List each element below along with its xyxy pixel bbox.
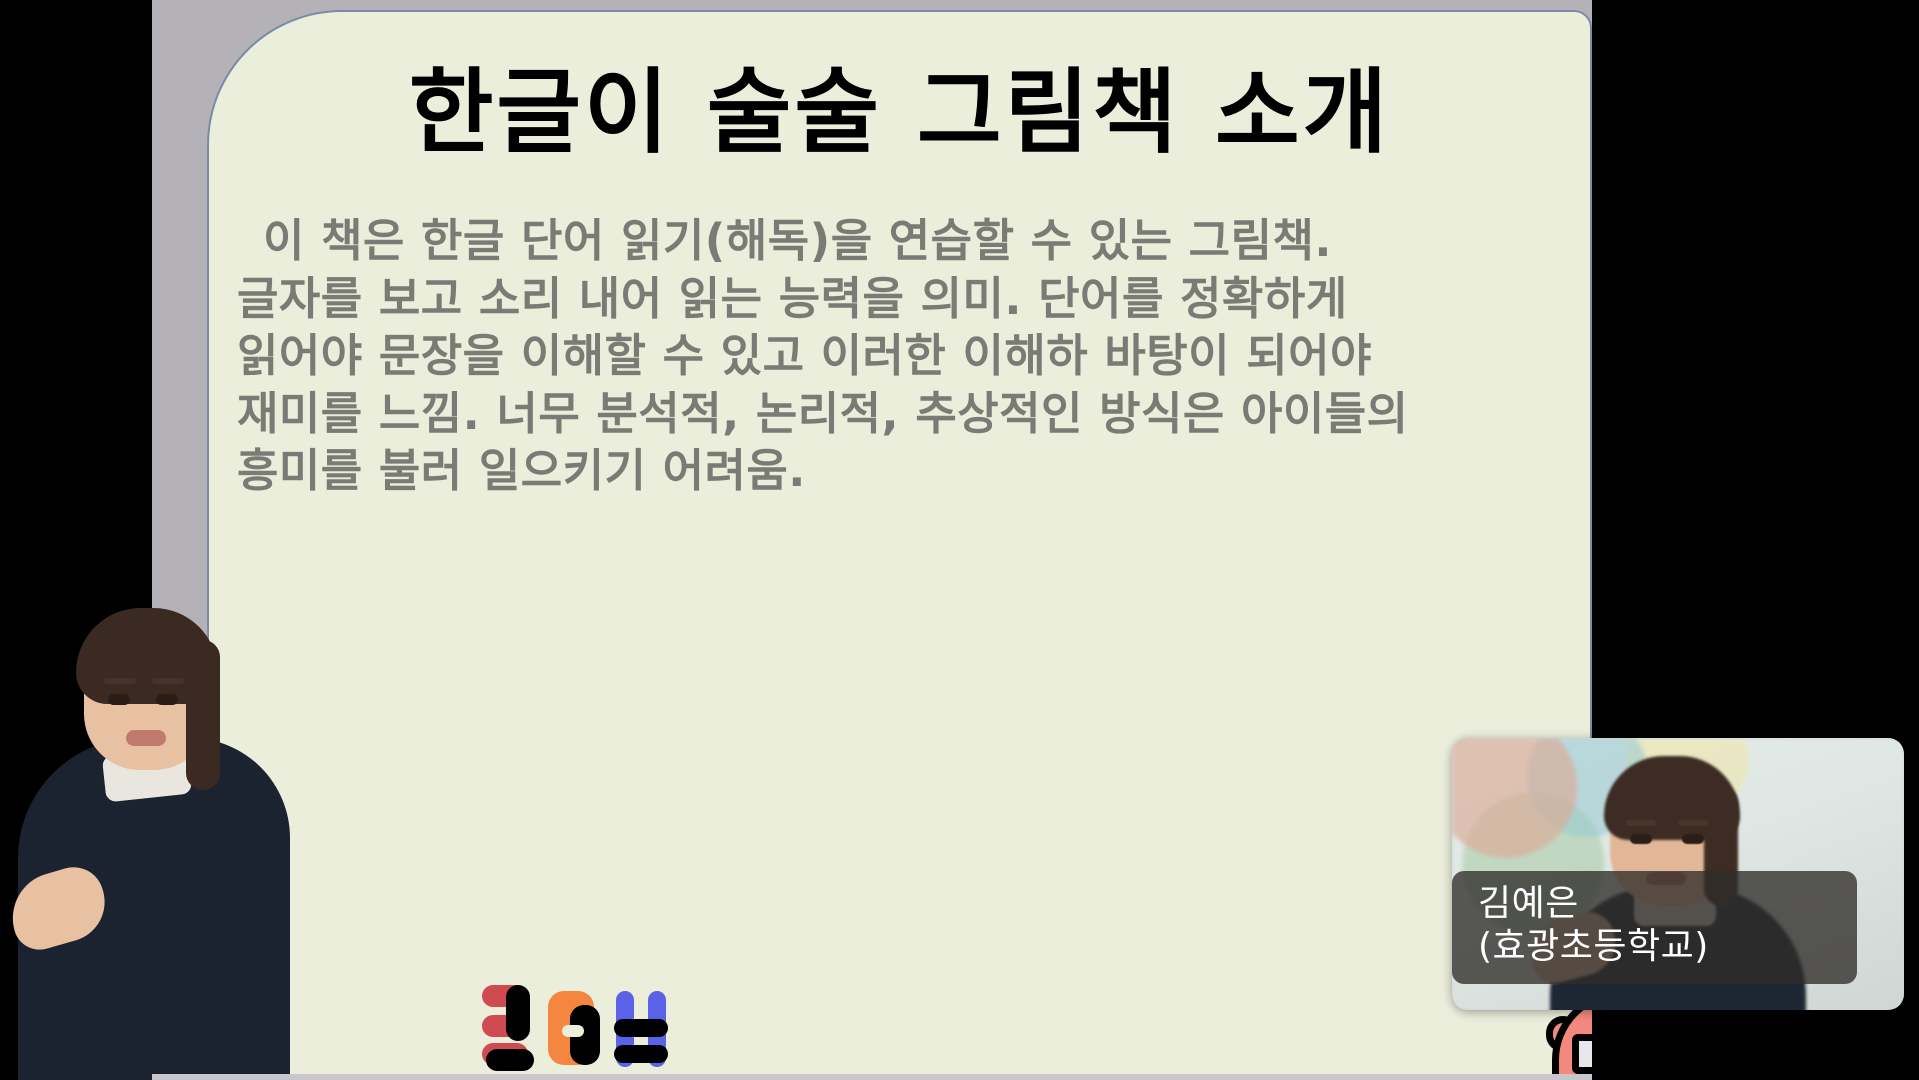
presentation-canvas: 한글이 술술 그림책 소개 이 책은 한글 단어 읽기(해독)을 연습할 수 있… <box>152 0 1592 1080</box>
pip-eye-left <box>1630 834 1652 844</box>
presenter-eye-left <box>108 694 130 705</box>
logo-glyph-orange <box>548 985 604 1071</box>
slide-content: 한글이 술술 그림책 소개 이 책은 한글 단어 읽기(해독)을 연습할 수 있… <box>209 12 1590 1080</box>
canvas-bottom-strip <box>152 1074 1592 1080</box>
body-line-5: 흥미를 불러 일으키기 어려움. <box>237 442 1557 500</box>
participant-affiliation: (효광초등학교) <box>1478 926 1857 968</box>
hangul-sulsul-logo-icon <box>482 985 672 1071</box>
body-line-3: 읽어야 문장을 이해할 수 있고 이러한 이해하 바탕이 되어야 <box>237 327 1557 385</box>
presenter-eye-right <box>156 694 178 705</box>
pip-brow-left <box>1626 820 1656 826</box>
slide-title: 한글이 술술 그림책 소개 <box>209 60 1590 166</box>
slide-body-text: 이 책은 한글 단어 읽기(해독)을 연습할 수 있는 그림책. 글자를 보고 … <box>237 212 1557 500</box>
logo-glyph-red <box>482 985 538 1071</box>
pip-eye-right <box>1682 834 1704 844</box>
body-line-1: 이 책은 한글 단어 읽기(해독)을 연습할 수 있는 그림책. <box>237 212 1557 270</box>
mascot-book <box>1572 1034 1592 1074</box>
participant-video-tile[interactable]: 김예은 (효광초등학교) <box>1452 738 1904 1010</box>
presenter-hair-side <box>186 640 220 790</box>
body-line-4: 재미를 느낌. 너무 분석적, 논리적, 추상적인 방식은 아이들의 <box>237 385 1557 443</box>
presenter-brow-right <box>152 678 184 684</box>
participant-name: 김예은 <box>1478 883 1857 925</box>
participant-nameplate: 김예은 (효광초등학교) <box>1452 871 1857 984</box>
logo-glyph-blue <box>614 985 670 1071</box>
presenter-mouth <box>126 730 166 746</box>
slide: 한글이 술술 그림책 소개 이 책은 한글 단어 읽기(해독)을 연습할 수 있… <box>207 10 1592 1080</box>
presenter-brow-left <box>104 678 136 684</box>
pip-brow-right <box>1678 820 1708 826</box>
presenter-speaker-overlay <box>0 600 290 1080</box>
body-line-2: 글자를 보고 소리 내어 읽는 능력을 의미. 단어를 정확하게 <box>237 270 1557 328</box>
screen-capture: 한글이 술술 그림책 소개 이 책은 한글 단어 읽기(해독)을 연습할 수 있… <box>0 0 1919 1080</box>
